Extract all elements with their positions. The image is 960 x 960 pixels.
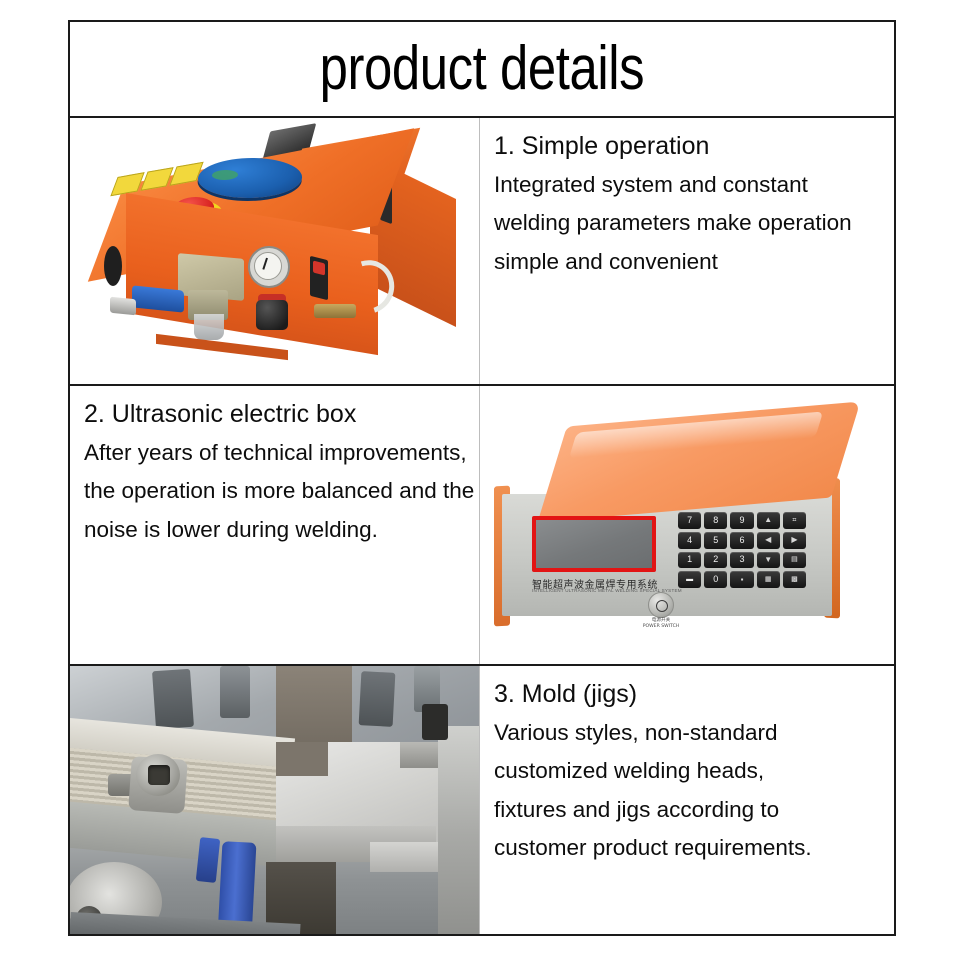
section-body-1: Integrated system and constant welding p…: [494, 166, 880, 281]
panel-label-english: INTELLIGENT ULTRASONIC METAL WELDING SPE…: [532, 588, 712, 593]
key-2[interactable]: 2: [704, 552, 727, 569]
key-function-2[interactable]: ▤: [783, 552, 806, 569]
section-body-2-line-2: the operation is more balanced and the: [84, 472, 465, 510]
key-function-3[interactable]: ▬: [678, 571, 701, 588]
key-arrow-down[interactable]: ▼: [757, 552, 780, 569]
key-arrow-up[interactable]: ▲: [757, 512, 780, 529]
content-frame: product details: [68, 20, 896, 936]
jig-socket-bolt-hole: [148, 765, 170, 785]
power-switch-label-cn: 电源开关: [652, 618, 670, 623]
media-cell-electric-box: 智能超声波金属焊专用系统 INTELLIGENT ULTRASONIC META…: [480, 386, 894, 664]
key-3[interactable]: 3: [730, 552, 753, 569]
section-heading-2: 2. Ultrasonic electric box: [84, 398, 465, 430]
machine-base-foot: [156, 334, 288, 360]
section-body-1-line-3: simple and convenient: [494, 243, 880, 281]
section-row-mold-jigs: 3. Mold (jigs) Various styles, non-stand…: [70, 666, 894, 934]
section-heading-1: 1. Simple operation: [494, 130, 880, 162]
key-0[interactable]: 0: [704, 571, 727, 588]
section-body-3-line-1: Various styles, non-standard: [494, 714, 880, 752]
machine-left-dark-disc: [104, 246, 122, 286]
section-body-3-line-4: customer product requirements.: [494, 829, 880, 867]
section-body-2-line-1: After years of technical improvements,: [84, 434, 465, 472]
jig-right-column: [438, 726, 479, 934]
text-cell-simple-operation: 1. Simple operation Integrated system an…: [480, 118, 894, 384]
media-cell-mold-jig: [70, 666, 480, 934]
section-body-3: Various styles, non-standard customized …: [494, 714, 880, 867]
key-decimal[interactable]: ▪: [730, 571, 753, 588]
jig-post-3: [359, 671, 396, 727]
power-switch-label: 电源开关 POWER SWITCH: [640, 618, 682, 630]
lcd-screen: [536, 520, 652, 568]
ultrasonic-electric-box-photo: 智能超声波金属焊专用系统 INTELLIGENT ULTRASONIC META…: [480, 386, 894, 664]
media-cell-welding-machine: [70, 118, 480, 384]
section-body-3-line-3: fixtures and jigs according to: [494, 791, 880, 829]
section-row-ultrasonic-electric-box: 2. Ultrasonic electric box After years o…: [70, 386, 894, 666]
silver-connector-tip: [110, 297, 136, 316]
page-title: product details: [320, 38, 645, 100]
jig-plate-notch-left: [276, 742, 328, 776]
key-6[interactable]: 6: [730, 532, 753, 549]
machine-rocker-switch: [310, 256, 328, 300]
jig-blue-clamp-tab: [196, 837, 220, 883]
jig-right-black-block: [422, 704, 448, 740]
jig-plate-notch-right: [400, 742, 442, 768]
key-8[interactable]: 8: [704, 512, 727, 529]
black-adjust-knob: [256, 300, 288, 330]
section-row-simple-operation: 1. Simple operation Integrated system an…: [70, 118, 894, 386]
key-7[interactable]: 7: [678, 512, 701, 529]
jig-post-2: [220, 666, 250, 718]
key-function-1[interactable]: ⌗: [783, 512, 806, 529]
power-switch-label-en: POWER SWITCH: [643, 624, 680, 629]
jig-post-1: [152, 669, 194, 730]
section-body-1-line-1: Integrated system and constant: [494, 166, 880, 204]
section-heading-3: 3. Mold (jigs): [494, 678, 880, 710]
title-band: product details: [70, 22, 894, 118]
key-1[interactable]: 1: [678, 552, 701, 569]
key-5[interactable]: 5: [704, 532, 727, 549]
key-function-4[interactable]: ▦: [757, 571, 780, 588]
key-arrow-right[interactable]: ▶: [783, 532, 806, 549]
brass-manifold: [314, 304, 356, 318]
mold-jig-closeup-photo: [70, 666, 479, 934]
control-keypad[interactable]: 7 8 9 ▲ ⌗ 4 5 6 ◀ ▶ 1 2 3 ▼ ▤: [678, 512, 806, 588]
section-body-3-line-2: customized welding heads,: [494, 752, 880, 790]
pressure-gauge-face: [254, 252, 282, 280]
power-switch-key[interactable]: [648, 592, 674, 618]
key-function-5[interactable]: ▩: [783, 571, 806, 588]
text-cell-mold-jigs: 3. Mold (jigs) Various styles, non-stand…: [480, 666, 894, 934]
key-arrow-left[interactable]: ◀: [757, 532, 780, 549]
section-body-2-line-3: noise is lower during welding.: [84, 511, 465, 549]
text-cell-ultrasonic-electric-box: 2. Ultrasonic electric box After years o…: [70, 386, 480, 664]
section-body-1-line-2: welding parameters make operation: [494, 204, 880, 242]
air-filter-bowl: [194, 314, 224, 340]
key-9[interactable]: 9: [730, 512, 753, 529]
ultrasonic-welding-machine-photo: [70, 118, 479, 384]
key-4[interactable]: 4: [678, 532, 701, 549]
section-body-2: After years of technical improvements, t…: [84, 434, 465, 549]
product-details-page: product details: [0, 0, 960, 960]
